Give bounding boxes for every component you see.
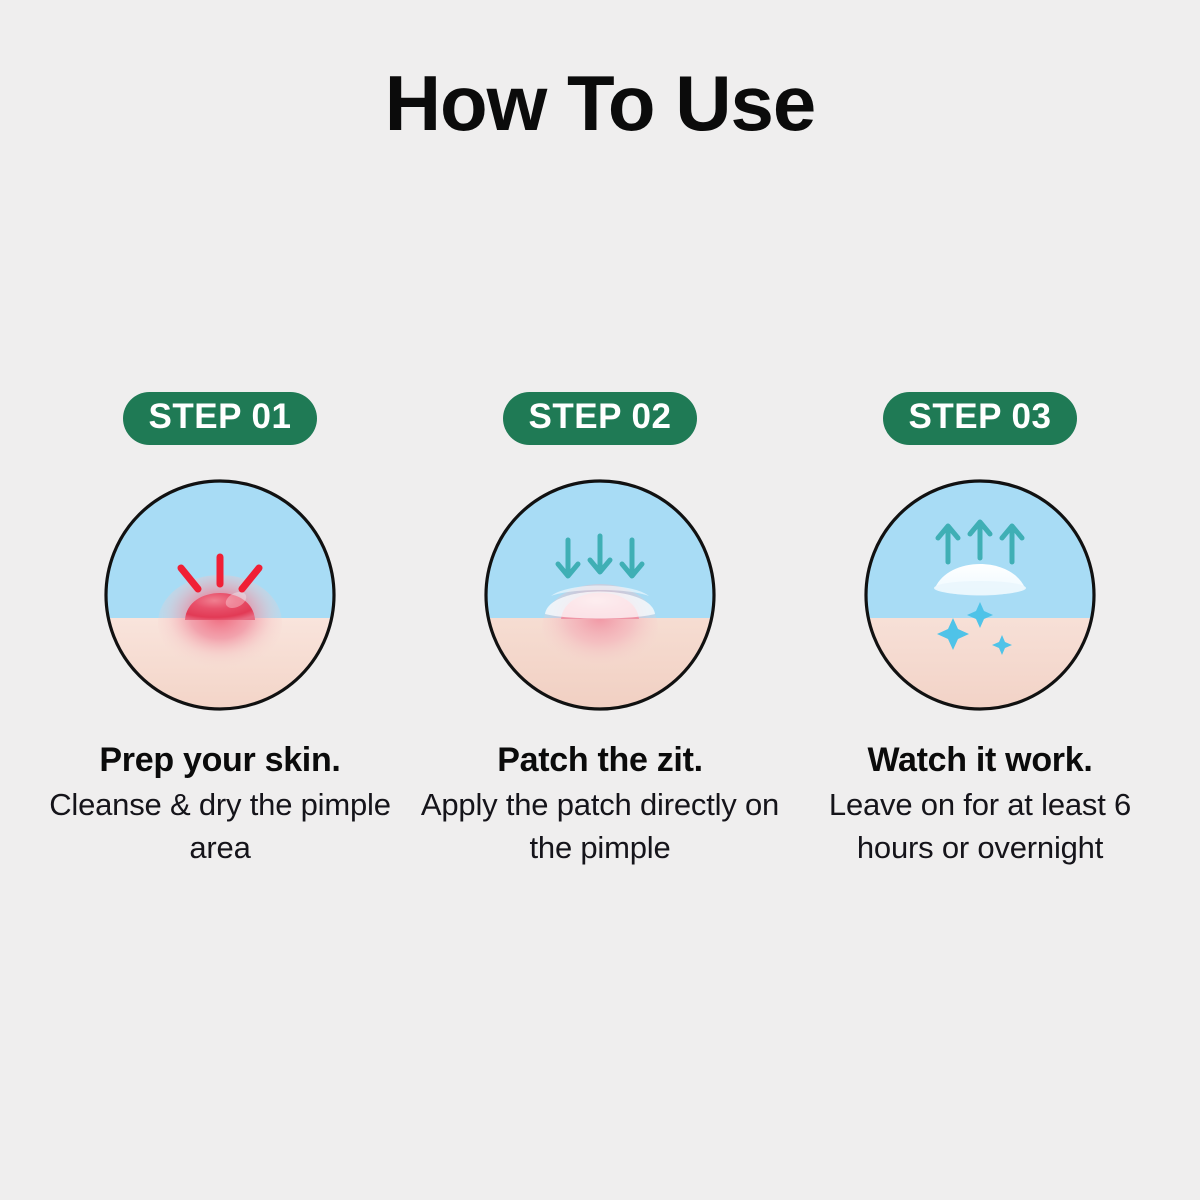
step-caption-3: Watch it work. Leave on for at least 6 h… xyxy=(790,740,1170,870)
step-card-1: STEP 01 xyxy=(30,392,410,869)
step-caption-body-3: Leave on for at least 6 hours or overnig… xyxy=(790,784,1170,870)
step-illustration-1 xyxy=(103,478,337,712)
steps-row: STEP 01 xyxy=(0,392,1200,869)
step-badge-1: STEP 01 xyxy=(123,392,318,445)
step-caption-body-1: Cleanse & dry the pimple area xyxy=(30,784,410,870)
step-illustration-3 xyxy=(863,478,1097,712)
step-caption-title-1: Prep your skin. xyxy=(30,740,410,780)
inflamed-pimple-icon xyxy=(103,478,337,712)
step-caption-title-2: Patch the zit. xyxy=(410,740,790,780)
step-badge-3: STEP 03 xyxy=(883,392,1078,445)
patch-applied-icon xyxy=(483,478,717,712)
step-card-3: STEP 03 xyxy=(790,392,1170,869)
step-caption-title-3: Watch it work. xyxy=(790,740,1170,780)
step-badge-2: STEP 02 xyxy=(503,392,698,445)
step-card-2: STEP 02 xyxy=(410,392,790,869)
patch-lifting-sparkles-icon xyxy=(863,478,1097,712)
step-caption-2: Patch the zit. Apply the patch directly … xyxy=(410,740,790,870)
page-title: How To Use xyxy=(0,64,1200,142)
step-caption-body-2: Apply the patch directly on the pimple xyxy=(410,784,790,870)
step-caption-1: Prep your skin. Cleanse & dry the pimple… xyxy=(30,740,410,870)
step-illustration-2 xyxy=(483,478,717,712)
